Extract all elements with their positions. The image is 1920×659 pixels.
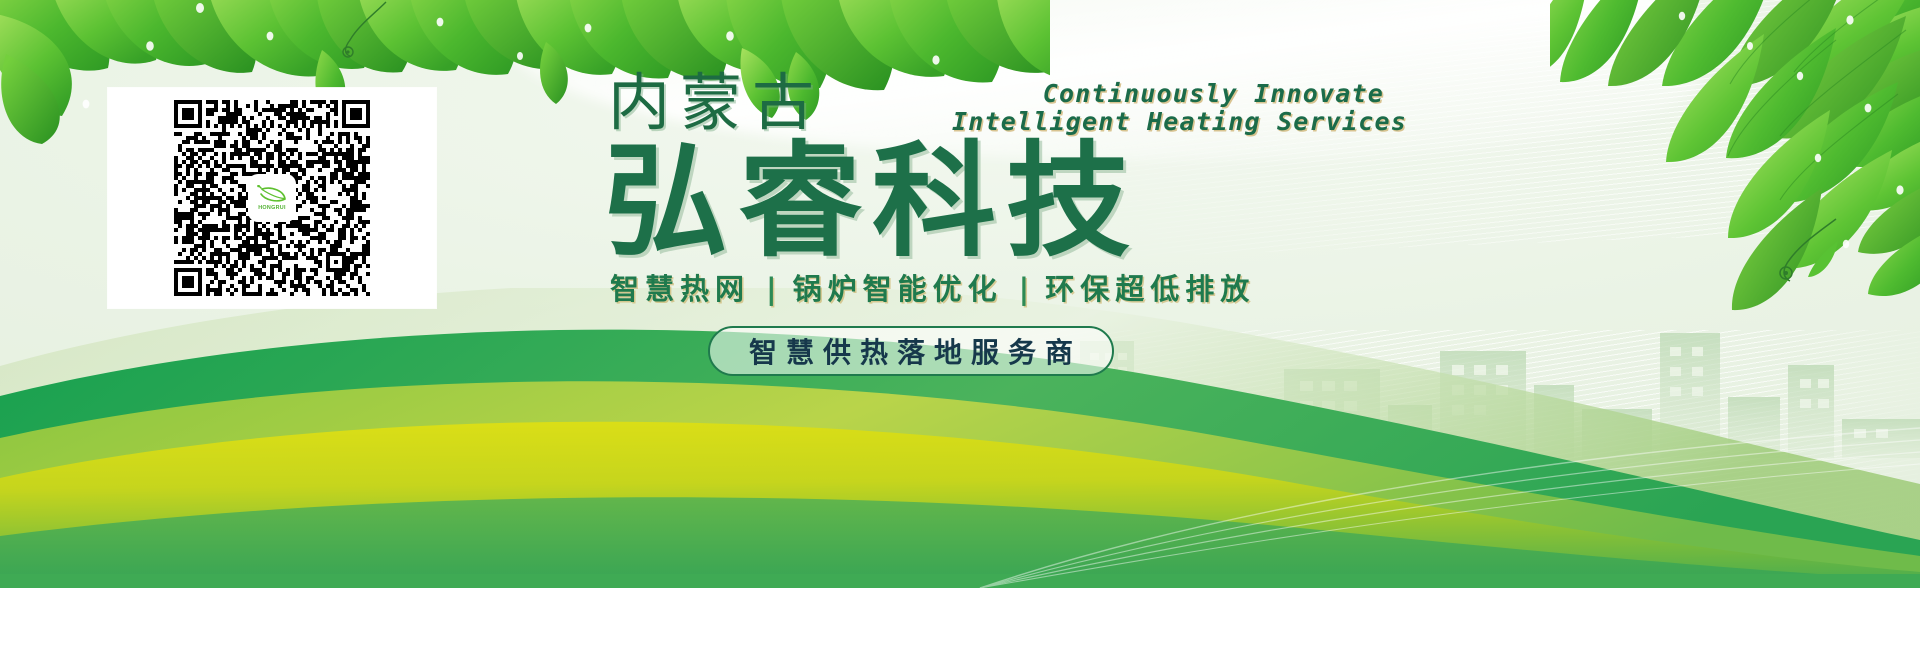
english-tagline-line-1: Continuously Innovate xyxy=(952,80,1384,108)
services-list: 智慧热网 | 锅炉智能优化 | 环保超低排放 xyxy=(610,275,1255,304)
english-tagline: Continuously Innovate Intelligent Heatin… xyxy=(952,80,1384,136)
headline-block: 内蒙古 Continuously Innovate Intelligent He… xyxy=(596,60,1776,460)
qr-code-holder[interactable]: HONGRUI xyxy=(174,100,370,296)
service-separator-1: | xyxy=(766,275,777,304)
badge-pill: 智慧供热落地服务商 xyxy=(708,326,1114,376)
tendril-icon xyxy=(330,0,410,60)
qr-code-card[interactable]: HONGRUI xyxy=(108,88,436,308)
service-item-3: 环保超低排放 xyxy=(1045,275,1255,304)
badge-text: 智慧供热落地服务商 xyxy=(740,331,1082,371)
page-root: HONGRUI 内蒙古 Continuously Innovate Intell… xyxy=(0,0,1920,659)
service-item-1: 智慧热网 xyxy=(610,275,750,304)
company-name: 弘睿科技 xyxy=(604,140,1140,264)
province-label: 内蒙古 xyxy=(608,72,824,134)
promo-banner: HONGRUI 内蒙古 Continuously Innovate Intell… xyxy=(0,0,1920,588)
service-separator-2: | xyxy=(1019,275,1030,304)
service-item-2: 锅炉智能优化 xyxy=(793,275,1003,304)
leaf-icon xyxy=(257,185,287,205)
hongrui-logo: HONGRUI xyxy=(250,176,294,220)
hongrui-logo-text: HONGRUI xyxy=(258,206,286,211)
